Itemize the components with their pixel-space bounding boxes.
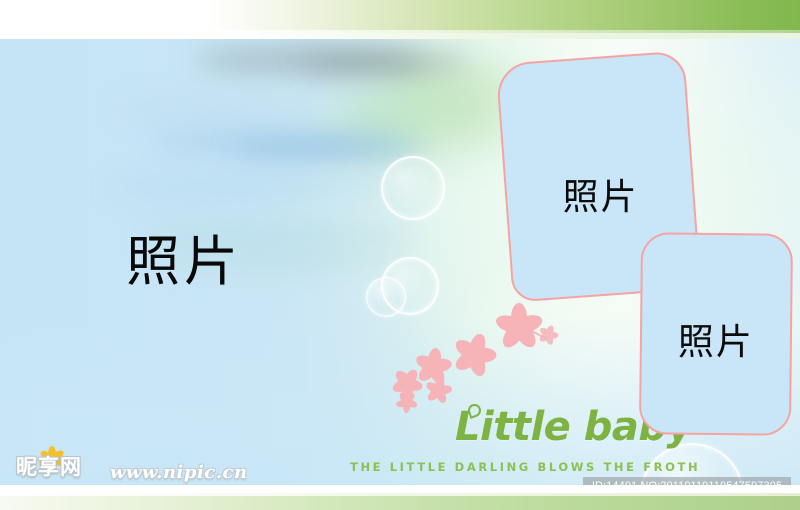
flower-icon-tiny	[396, 391, 418, 413]
blur-smudge-pale	[120, 99, 320, 119]
photo-placeholder-left[interactable]: 照片	[126, 235, 242, 289]
poster-canvas: 照片	[0, 0, 800, 510]
bottom-green-gradient-bar	[0, 496, 800, 510]
flower-icon-tiny	[538, 325, 558, 345]
bubble-icon	[366, 277, 406, 317]
flower-icon	[452, 333, 496, 377]
flower-icon-small	[425, 377, 452, 404]
watermark-url: www.nipic.cn	[110, 462, 248, 483]
top-bar-fade	[0, 30, 800, 39]
site-watermark: 昵享网 www.nipic.cn	[16, 455, 248, 485]
blur-smudge-blue-2	[230, 143, 430, 156]
blur-smudge-dark-2	[300, 53, 470, 73]
bubble-icon	[381, 156, 445, 220]
brand-tagline: THE LITTLE DARLING BLOWS THE FROTH	[350, 462, 700, 474]
flower-icon-large	[495, 303, 543, 351]
blur-smudge-blue-3	[110, 179, 410, 195]
top-green-gradient-bar	[0, 0, 800, 33]
logo-cn-text: 昵享网	[16, 457, 82, 478]
nipic-logo: 昵享网	[16, 455, 102, 485]
photo-placeholder-label: 照片	[563, 179, 639, 215]
photo-placeholder-label: 照片	[678, 325, 754, 361]
photo-frame-lower-right[interactable]: 照片	[639, 232, 793, 436]
artwork-canvas: 照片	[0, 39, 800, 485]
